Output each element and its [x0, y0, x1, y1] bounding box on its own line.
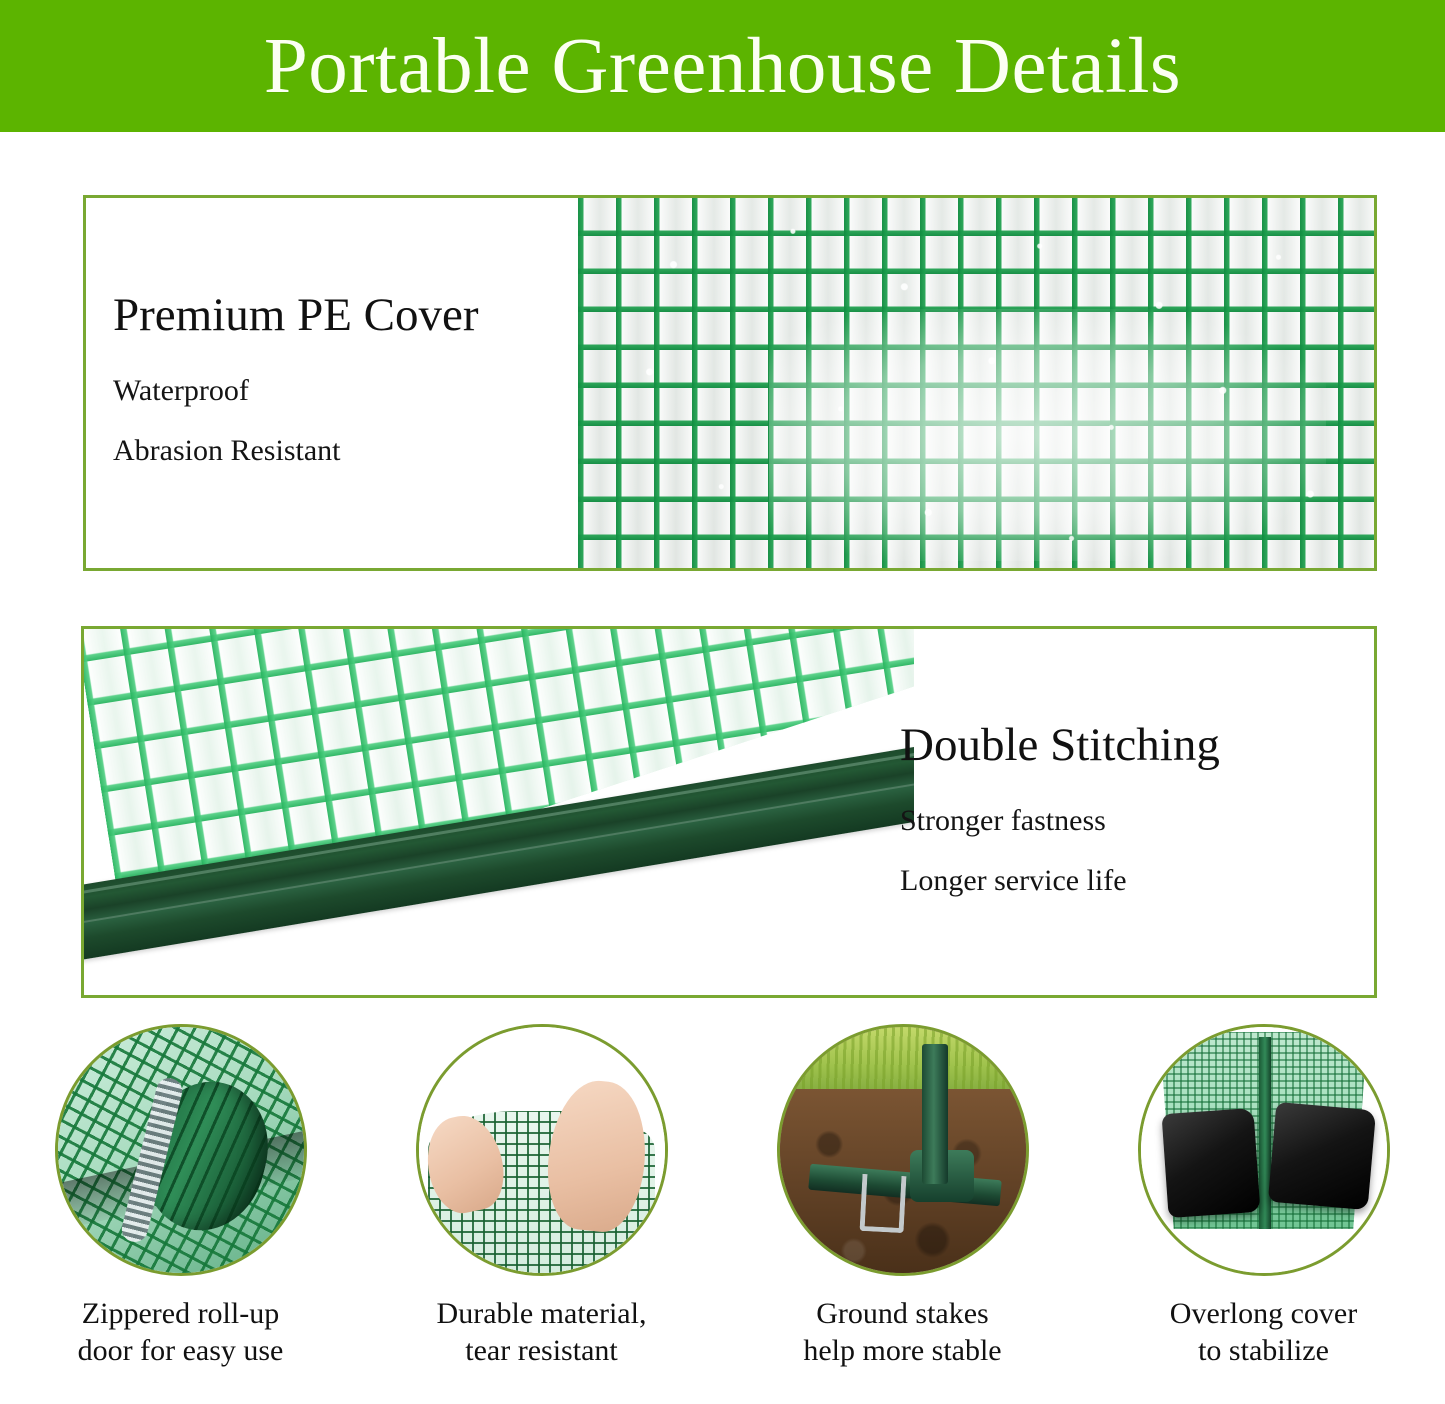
pe-mesh-photo: [578, 198, 1374, 568]
feature-image-ground-stakes: [777, 1024, 1029, 1276]
feature-caption-durable-material: Durable material, tear resistant: [437, 1296, 647, 1369]
header-banner: Portable Greenhouse Details: [0, 0, 1445, 132]
stitched-cover-photo: [84, 629, 914, 995]
frame-pipe-vertical: [922, 1044, 948, 1184]
sandbag-left-icon: [1162, 1108, 1261, 1218]
corner-post: [1259, 1037, 1271, 1229]
feature-overlong-cover: Overlong cover to stabilize: [1083, 1024, 1444, 1369]
mesh-grid-texture: [578, 198, 1374, 568]
pe-cover-bullet-2: Abrasion Resistant: [113, 434, 578, 467]
double-stitching-bullet-1: Stronger fastness: [900, 804, 1374, 837]
feature-zippered-door: Zippered roll-up door for easy use: [0, 1024, 361, 1369]
feature-ground-stakes: Ground stakes help more stable: [722, 1024, 1083, 1369]
pe-cover-bullet-1: Waterproof: [113, 374, 578, 407]
page-title: Portable Greenhouse Details: [264, 27, 1181, 106]
feature-image-overlong-cover: [1138, 1024, 1390, 1276]
hands-stretching-mesh-photo: [419, 1027, 665, 1273]
ground-stake-icon: [859, 1173, 906, 1232]
feature-caption-overlong-cover: Overlong cover to stabilize: [1170, 1296, 1357, 1369]
double-stitching-heading: Double Stitching: [900, 721, 1374, 770]
feature-image-zippered-door: [55, 1024, 307, 1276]
feature-panel-pe-cover: Premium PE Cover Waterproof Abrasion Res…: [83, 195, 1377, 571]
feature-highlights-row: Zippered roll-up door for easy use Durab…: [0, 1024, 1445, 1369]
sandbag-weights-photo: [1141, 1027, 1387, 1273]
feature-caption-zippered-door: Zippered roll-up door for easy use: [78, 1296, 284, 1369]
ground-stake-photo: [780, 1027, 1026, 1273]
pe-cover-heading: Premium PE Cover: [113, 291, 578, 340]
feature-image-durable-material: [416, 1024, 668, 1276]
feature-durable-material: Durable material, tear resistant: [361, 1024, 722, 1369]
feature-caption-ground-stakes: Ground stakes help more stable: [803, 1296, 1001, 1369]
double-stitching-bullet-2: Longer service life: [900, 864, 1374, 897]
feature-panel-double-stitching: Double Stitching Stronger fastness Longe…: [81, 626, 1377, 998]
zipper-door-photo: [58, 1027, 304, 1273]
pe-cover-text-block: Premium PE Cover Waterproof Abrasion Res…: [86, 198, 578, 568]
double-stitching-text-block: Double Stitching Stronger fastness Longe…: [882, 629, 1374, 995]
sandbag-right-icon: [1268, 1102, 1376, 1210]
